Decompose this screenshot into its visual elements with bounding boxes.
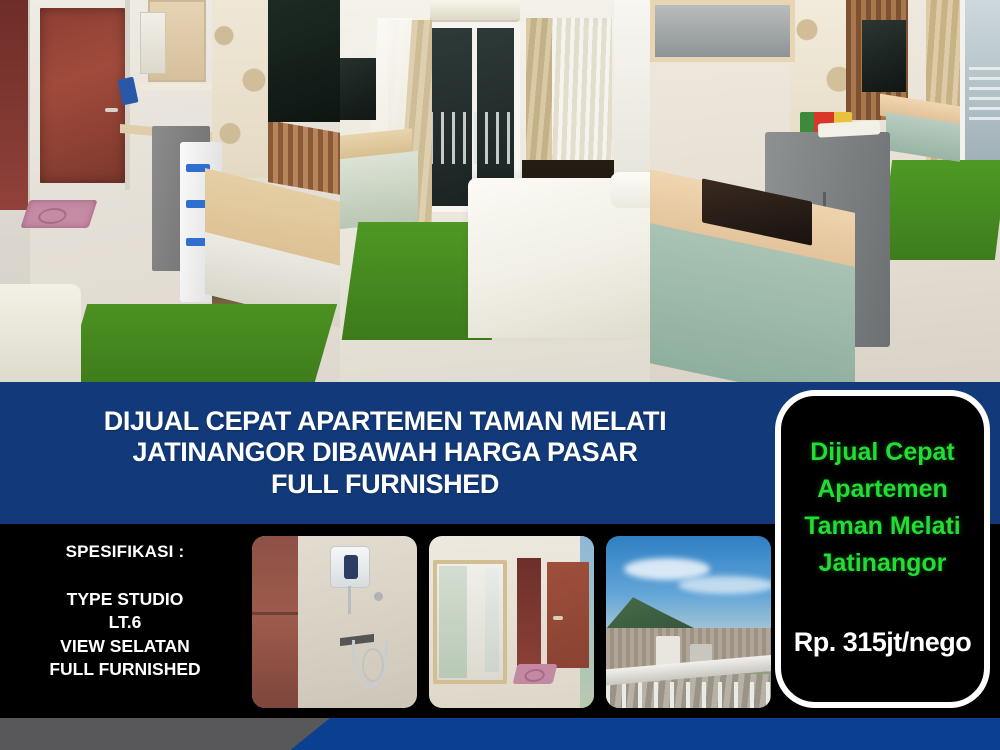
lower-cabinet: [340, 151, 418, 229]
badge-line-1: Dijual Cepat: [810, 434, 954, 471]
pillow: [610, 172, 650, 208]
overhead-cabinet: [650, 0, 795, 62]
window-ledge: [522, 160, 614, 178]
badge-line-4: Jatinangor: [819, 545, 947, 582]
shower-hose-coil: [362, 648, 384, 682]
bathroom-door: [252, 536, 298, 708]
thumbnail-row: [252, 536, 771, 708]
photo-kitchen-counter-with-refrigerator[interactable]: [650, 0, 1000, 382]
entrance-door: [547, 562, 589, 668]
wall-television: [862, 20, 906, 92]
bottom-grey-strip: [0, 718, 330, 750]
spec-item-floor: LT.6: [109, 611, 142, 633]
balcony-railing-bars: [606, 682, 771, 708]
wall-shelf-unit: [140, 12, 166, 74]
side-door: [0, 0, 30, 210]
balcony-window: [960, 0, 1000, 165]
specifications-list: TYPE STUDIO LT.6 VIEW SELATAN FULL FURNI…: [49, 588, 200, 681]
green-carpet: [880, 160, 1000, 260]
specifications-title: SPESIFIKASI :: [66, 542, 185, 562]
badge-line-2: Apartemen: [817, 471, 948, 508]
badge-line-3: Taman Melati: [804, 508, 961, 545]
headline-line-3: FULL FURNISHED: [271, 469, 499, 500]
air-conditioner: [430, 0, 520, 22]
specifications-block: SPESIFIKASI : TYPE STUDIO LT.6 VIEW SELA…: [0, 524, 250, 718]
water-heater: [330, 546, 370, 588]
balcony-railing: [430, 112, 516, 164]
price-badge-card[interactable]: Dijual Cepat Apartemen Taman Melati Jati…: [775, 390, 990, 708]
main-photo-row: [0, 0, 1000, 382]
photo-entry-corridor-with-kitchenette[interactable]: [0, 0, 340, 382]
spec-item-view: VIEW SELATAN: [60, 635, 190, 657]
photo-3-scene: [650, 0, 1000, 382]
spec-item-furnishing: FULL FURNISHED: [49, 658, 200, 680]
interior-door-dark: [517, 558, 541, 668]
thumbnail-bathroom-with-water-heater[interactable]: [252, 536, 417, 708]
headline-line-2: JATINANGOR DIBAWAH HARGA PASAR: [132, 437, 637, 468]
thumbnail-entrance-with-wardrobe[interactable]: [429, 536, 594, 708]
thumbnail-3-scene: [606, 536, 771, 708]
property-listing-flyer: DIJUAL CEPAT APARTEMEN TAMAN MELATI JATI…: [0, 0, 1000, 750]
green-carpet: [65, 304, 337, 382]
foam-mattress: [0, 284, 81, 382]
thumbnail-2-scene: [429, 536, 594, 708]
wardrobe-mirror: [485, 568, 499, 672]
headline-line-1: DIJUAL CEPAT APARTEMEN TAMAN MELATI: [104, 406, 666, 437]
door-handle: [553, 616, 563, 620]
thumbnail-1-scene: [252, 536, 417, 708]
wall-hook: [374, 592, 383, 601]
heater-pipe: [348, 586, 351, 614]
prayer-mat: [513, 664, 558, 684]
thumbnail-balcony-mountain-city-view[interactable]: [606, 536, 771, 708]
cloud: [678, 576, 771, 594]
prayer-mat: [20, 200, 97, 228]
photo-1-scene: [0, 0, 340, 382]
wall-television: [268, 0, 340, 122]
door-handle: [105, 108, 118, 112]
price-text: Rp. 315jt/nego: [781, 627, 984, 658]
entrance-door: [40, 8, 125, 183]
photo-bedroom-with-balcony-door[interactable]: [340, 0, 650, 382]
bedroom-right-wall: [614, 0, 650, 200]
spec-item-type: TYPE STUDIO: [67, 588, 184, 610]
bedroom-television: [340, 58, 376, 120]
cabinet-shelf: [140, 84, 212, 90]
photo-2-scene: [340, 0, 650, 382]
drape-curtain-right: [526, 18, 552, 178]
